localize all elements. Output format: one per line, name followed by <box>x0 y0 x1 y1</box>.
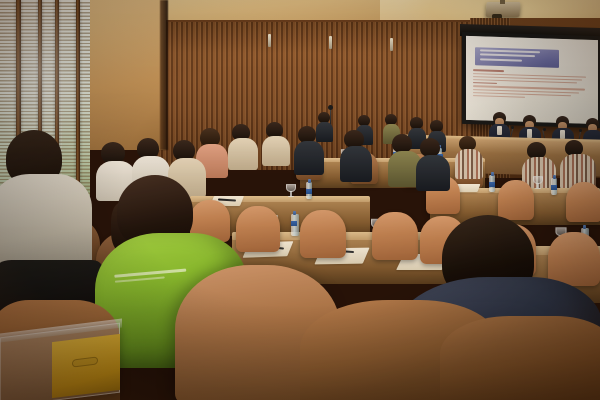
slide-title-line <box>480 50 540 54</box>
glass-foot <box>288 196 294 198</box>
water-bottle <box>291 214 299 236</box>
slide-text-line <box>473 95 525 98</box>
water-bottle <box>306 182 312 199</box>
projection-screen <box>466 36 598 124</box>
water-bottle <box>551 178 557 195</box>
person-body <box>416 155 450 191</box>
water-glass <box>286 184 296 197</box>
water-bottle <box>489 175 495 192</box>
door-handle-icon <box>329 36 332 49</box>
chair <box>300 210 346 258</box>
projector-mount <box>500 0 505 4</box>
acrylic-box-yellow-panel <box>52 334 120 398</box>
person-body <box>455 149 483 179</box>
slide-body-text <box>473 69 591 119</box>
person-body <box>294 141 324 175</box>
person-body <box>0 174 92 274</box>
slide-heading-line <box>473 69 504 72</box>
door-handle-icon <box>268 34 271 47</box>
person-body <box>262 136 290 166</box>
presentation-slide <box>466 36 598 124</box>
wall-edge-shadow <box>160 0 168 150</box>
person-body <box>316 122 333 142</box>
door-handle-icon <box>390 38 393 51</box>
foreground-white-shirt-man <box>0 130 98 310</box>
conference-room-photo: Conference seminar room with audience an… <box>0 0 600 400</box>
slide-heading-line <box>473 82 497 84</box>
chair <box>498 180 534 220</box>
panelist-shirt <box>527 129 532 138</box>
foreground-chair <box>440 316 600 400</box>
person-body <box>340 146 372 182</box>
panelist-shirt <box>497 126 502 135</box>
glass-foot <box>535 188 541 190</box>
shirt-print-line <box>115 276 165 283</box>
microphone-head-icon <box>328 105 333 110</box>
slide-title-line <box>480 54 535 58</box>
water-glass <box>533 176 543 189</box>
projector-icon <box>485 2 520 17</box>
plaster-wall-panel <box>88 0 166 150</box>
person-body <box>228 138 258 170</box>
slide-title-banner <box>475 47 559 68</box>
slide-title-line <box>480 58 522 61</box>
